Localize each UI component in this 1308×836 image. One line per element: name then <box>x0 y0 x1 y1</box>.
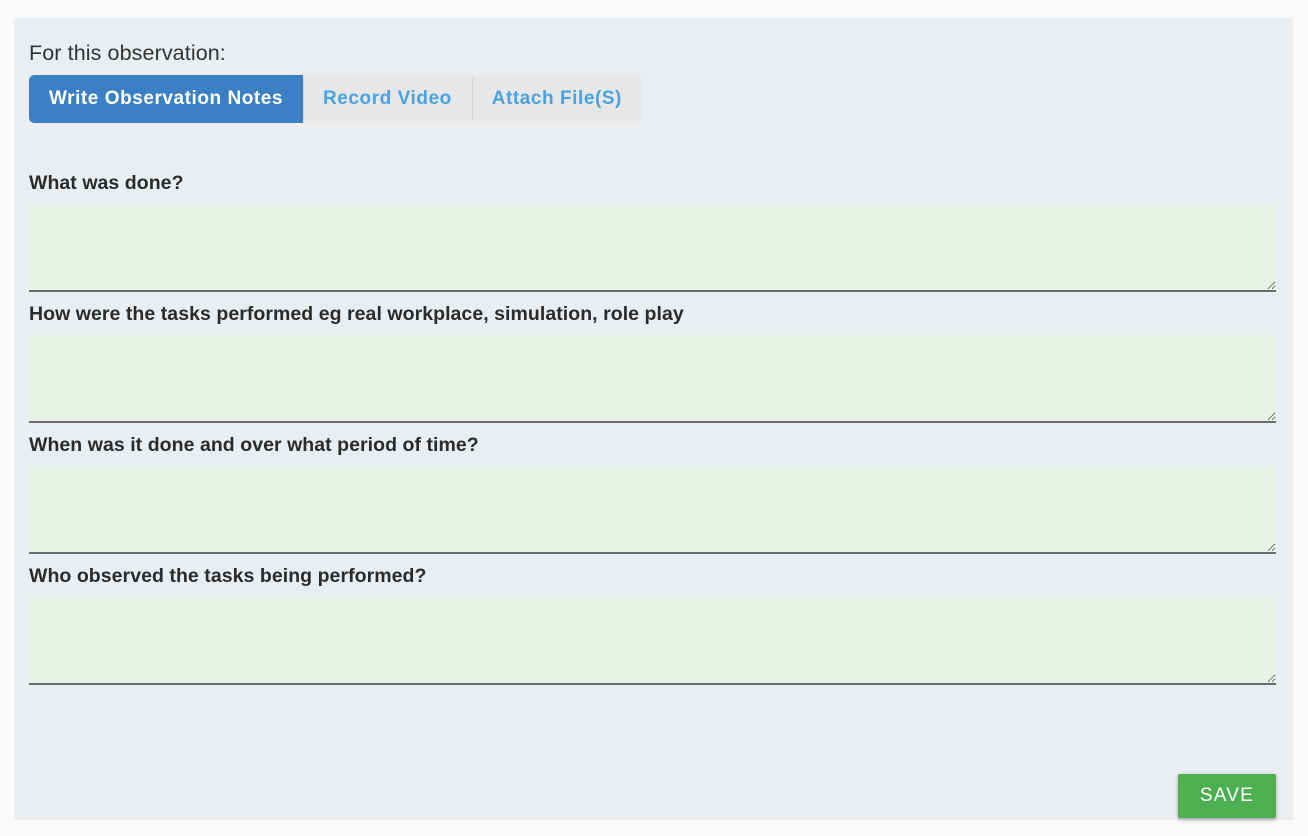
answer-input-what-was-done[interactable] <box>29 204 1276 292</box>
question-label-how-tasks-performed: How were the tasks performed eg real wor… <box>29 292 1278 335</box>
tab-write-observation-notes[interactable]: Write Observation Notes <box>29 75 303 123</box>
tab-attach-files[interactable]: Attach File(S) <box>472 75 642 123</box>
answer-input-who-observed[interactable] <box>29 597 1276 685</box>
save-button[interactable]: SAVE <box>1178 774 1276 818</box>
observation-mode-tabs: Write Observation Notes Record Video Att… <box>29 75 642 123</box>
field-how-tasks-performed: How were the tasks performed eg real wor… <box>29 292 1278 423</box>
observation-notes-form: What was done? How were the tasks perfor… <box>29 161 1278 685</box>
answer-input-how-tasks-performed[interactable] <box>29 335 1276 423</box>
observation-card: For this observation: Write Observation … <box>14 18 1293 820</box>
answer-input-when-was-it-done[interactable] <box>29 466 1276 554</box>
question-label-when-was-it-done: When was it done and over what period of… <box>29 423 1278 466</box>
question-label-who-observed: Who observed the tasks being performed? <box>29 554 1278 597</box>
save-row: SAVE <box>29 762 1276 808</box>
question-label-what-was-done: What was done? <box>29 161 1278 204</box>
tab-record-video[interactable]: Record Video <box>303 75 472 123</box>
field-what-was-done: What was done? <box>29 161 1278 292</box>
field-who-observed: Who observed the tasks being performed? <box>29 554 1278 685</box>
field-when-was-it-done: When was it done and over what period of… <box>29 423 1278 554</box>
intro-label: For this observation: <box>29 40 226 66</box>
